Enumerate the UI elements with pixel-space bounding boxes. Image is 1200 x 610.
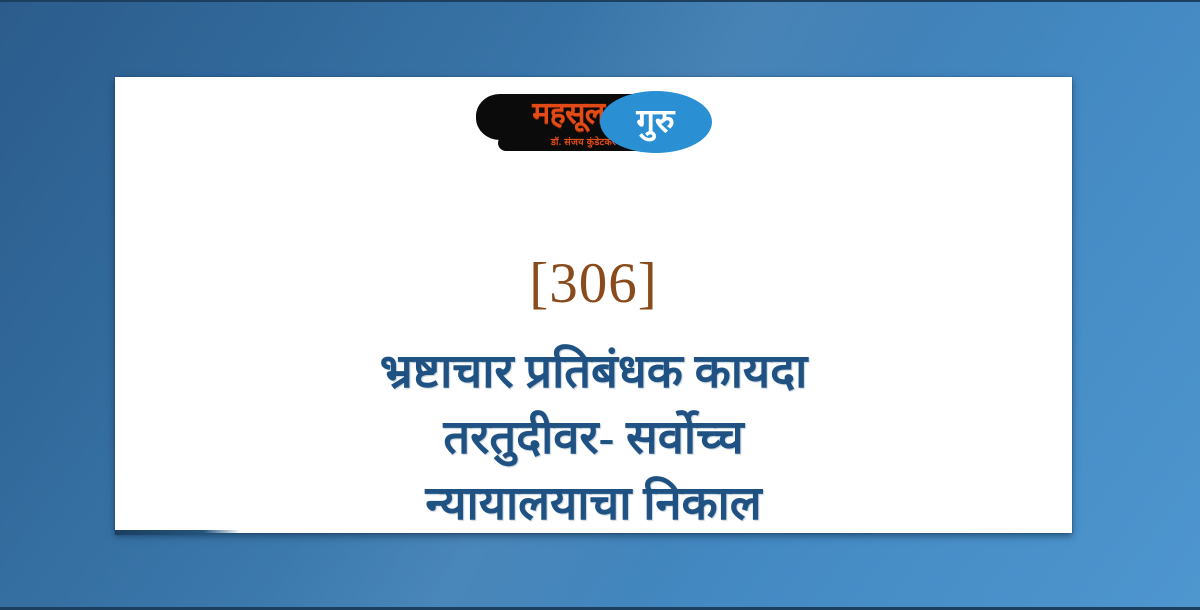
logo-container: महसूल डॉ. संजय कुंडेटकर गुरु <box>115 91 1072 157</box>
logo-oval-text: गुरु <box>600 91 712 153</box>
slide-content-card: महसूल डॉ. संजय कुंडेटकर गुरु [306] भ्रष्… <box>115 77 1072 533</box>
slide-number: [306] <box>115 255 1072 312</box>
card-bottom-shadow <box>115 530 241 535</box>
page-title: भ्रष्टाचार प्रतिबंधक कायदा तरतुदीवर- सर्… <box>155 339 1032 537</box>
mahsul-guru-logo: महसूल डॉ. संजय कुंडेटकर गुरु <box>476 91 712 157</box>
heading-line-1: भ्रष्टाचार प्रतिबंधक कायदा <box>155 339 1032 405</box>
heading-line-3: न्यायालयाचा निकाल <box>155 471 1032 537</box>
heading-line-2: तरतुदीवर- सर्वोच्च <box>155 405 1032 471</box>
presentation-slide: महसूल डॉ. संजय कुंडेटकर गुरु [306] भ्रष्… <box>0 0 1200 610</box>
